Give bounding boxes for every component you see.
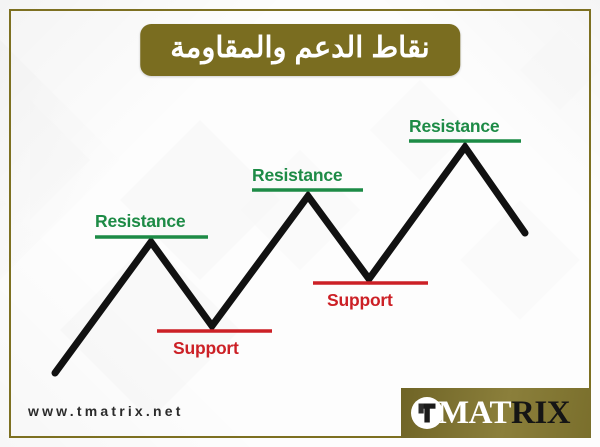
poster-canvas: نقاط الدعم والمقاومة www.tmatrix.net MAT…: [0, 0, 600, 447]
resistance-label: Resistance: [95, 211, 185, 232]
resistance-label: Resistance: [409, 116, 499, 137]
support-label: Support: [173, 338, 239, 359]
brand-wordmark: MATRIX: [438, 397, 570, 430]
brand-word-part1: MAT: [438, 395, 511, 431]
brand-logo: MATRIX: [401, 388, 591, 438]
site-url: www.tmatrix.net: [28, 403, 184, 419]
support-label: Support: [327, 290, 393, 311]
brand-word-part2: RIX: [511, 395, 570, 431]
t-monogram-icon: [411, 397, 443, 429]
resistance-label: Resistance: [252, 165, 342, 186]
price-chart: [0, 0, 600, 447]
